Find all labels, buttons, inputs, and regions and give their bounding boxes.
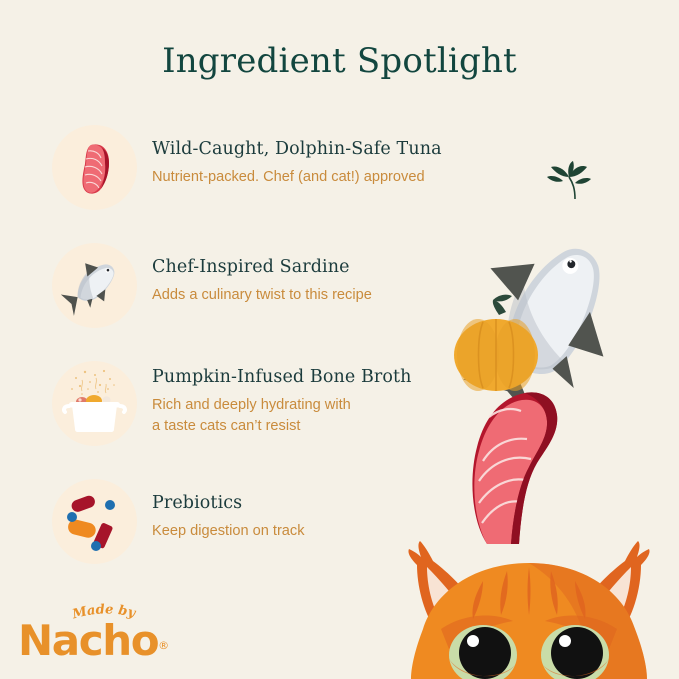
- ingredient-spotlight-page: Ingredient Spotlight: [0, 0, 679, 679]
- ingredient-subtitle: Adds a culinary twist to this recipe: [152, 285, 522, 306]
- ingredient-title: Chef-Inspired Sardine: [152, 257, 522, 279]
- ingredient-title: Prebiotics: [152, 493, 522, 515]
- ingredient-text-bone-broth: Pumpkin-Infused Bone Broth Rich and deep…: [152, 367, 522, 436]
- ingredient-subtitle: Keep digestion on track: [152, 521, 522, 542]
- page-title: Ingredient Spotlight: [0, 41, 679, 81]
- sardine-fish-icon: [52, 243, 137, 328]
- ingredient-text-tuna: Wild-Caught, Dolphin-Safe Tuna Nutrient-…: [152, 139, 522, 188]
- ingredient-subtitle: Nutrient-packed. Chef (and cat!) approve…: [152, 167, 522, 188]
- ingredient-title: Wild-Caught, Dolphin-Safe Tuna: [152, 139, 522, 161]
- ingredient-row-sardine: Chef-Inspired Sardine Adds a culinary tw…: [52, 243, 522, 328]
- herb-sprig-icon: [547, 161, 591, 199]
- registered-trademark-icon: ®: [158, 639, 169, 652]
- ingredient-subtitle-line2: a taste cats can’t resist: [152, 416, 522, 437]
- ingredient-title: Pumpkin-Infused Bone Broth: [152, 367, 522, 389]
- brand-logo: Made by Nacho®: [18, 603, 183, 665]
- ingredient-list: Wild-Caught, Dolphin-Safe Tuna Nutrient-…: [52, 125, 522, 597]
- brand-wordmark: Nacho®: [18, 620, 169, 662]
- ingredient-subtitle-line1: Rich and deeply hydrating with: [152, 397, 351, 413]
- broth-pot-icon: [52, 361, 137, 446]
- ingredient-row-prebiotics: Prebiotics Keep digestion on track: [52, 479, 522, 564]
- ingredient-text-sardine: Chef-Inspired Sardine Adds a culinary tw…: [152, 257, 522, 306]
- prebiotics-microbes-icon: [52, 479, 137, 564]
- ingredient-row-tuna: Wild-Caught, Dolphin-Safe Tuna Nutrient-…: [52, 125, 522, 210]
- ingredient-row-bone-broth: Pumpkin-Infused Bone Broth Rich and deep…: [52, 361, 522, 446]
- tuna-loin-icon: [52, 125, 137, 210]
- brand-name: Nacho: [18, 616, 158, 665]
- ingredient-subtitle: Rich and deeply hydrating with a taste c…: [152, 395, 522, 436]
- ingredient-text-prebiotics: Prebiotics Keep digestion on track: [152, 493, 522, 542]
